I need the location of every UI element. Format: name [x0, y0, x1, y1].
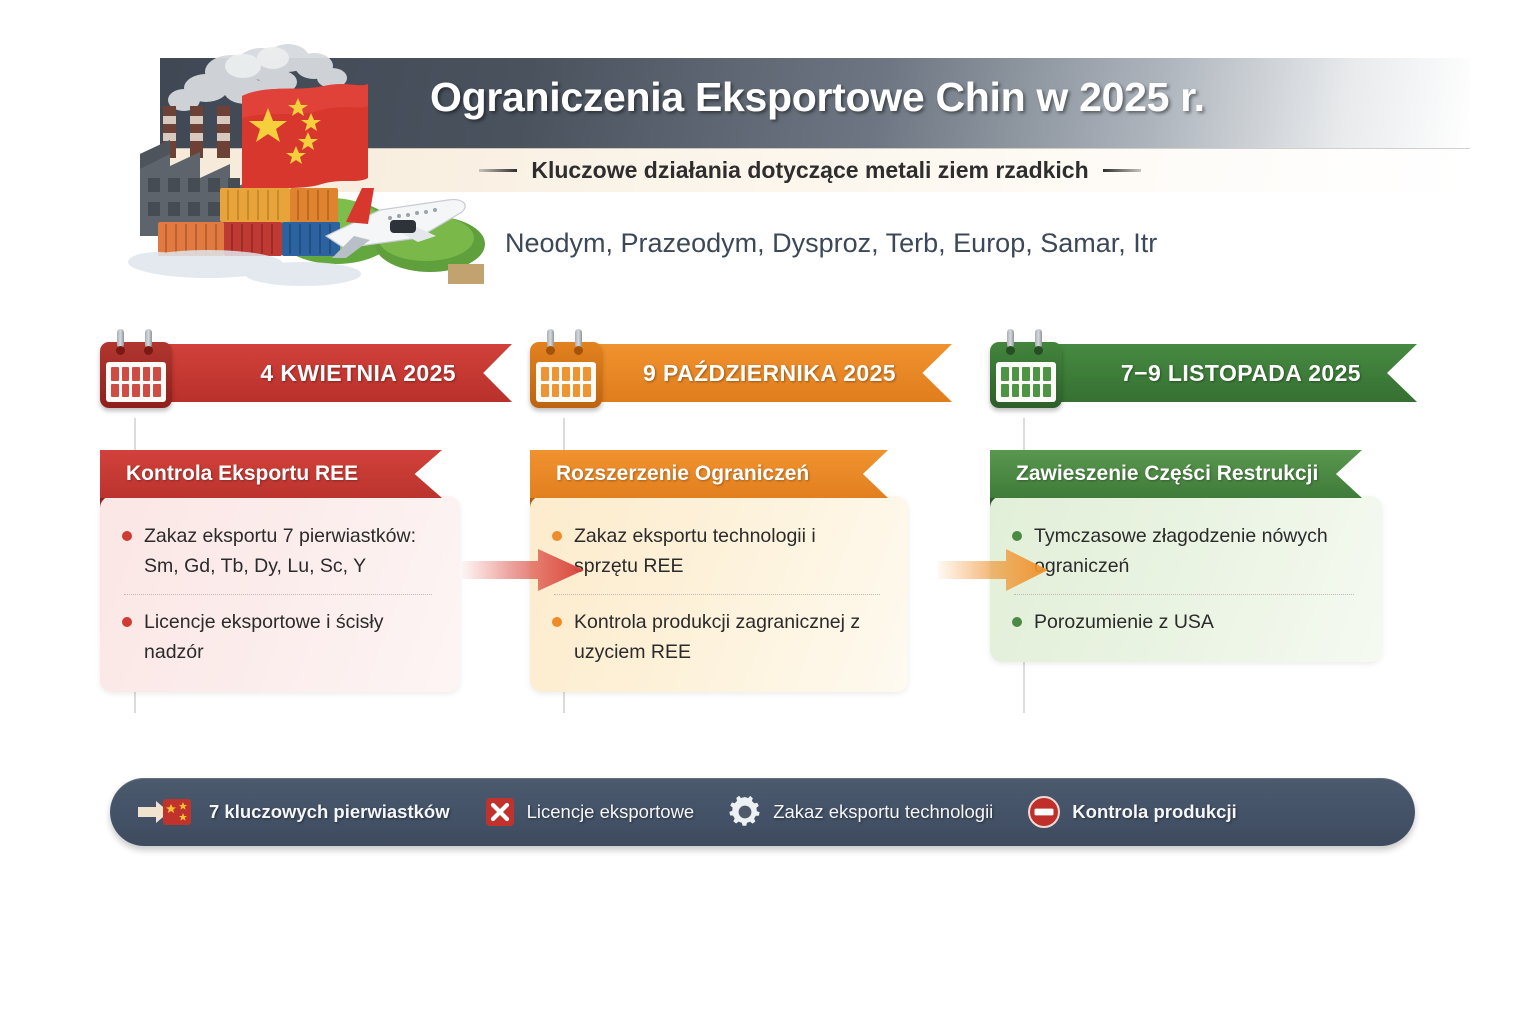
- card-body-stage-1: Zakaz eksportu 7 pierwiastków: Sm, Gd, T…: [100, 496, 460, 692]
- bullet-text: Licencje eksportowe i ścisły nadzór: [144, 608, 434, 667]
- date-row-stage-1: 4 KWIETNIA 2025: [100, 330, 540, 410]
- date-row-stage-2: 9 PAŹDZIERNIKA 2025: [530, 330, 970, 410]
- arrow-stage1-to-stage2: [462, 548, 584, 592]
- legend-item-technology[interactable]: Zakaz eksportu technologii: [728, 795, 993, 829]
- bullet-dot-icon: [122, 531, 132, 541]
- bullet-text: Zakaz eksportu 7 pierwiastków: Sm, Gd, T…: [144, 522, 434, 581]
- bullet-divider: [124, 594, 432, 595]
- bullet-dot-icon: [552, 617, 562, 627]
- timeline-stage-2: 9 PAŹDZIERNIKA 2025 Rozszerzenie Ogranic…: [530, 330, 970, 410]
- calendar-icon: [100, 342, 172, 408]
- card-stage-3: Zawieszenie Części Restrukcji Tymczasowe…: [990, 450, 1382, 662]
- timeline-stage-3: 7−9 LISTOPADA 2025 Zawieszenie Części Re…: [990, 330, 1430, 410]
- factory-flag-containers-airplane-illustration: [118, 36, 488, 286]
- legend-item-elements[interactable]: 7 kluczowych pierwiastków: [138, 796, 450, 828]
- list-item: Zakaz eksportu technologii i sprzętu REE: [552, 522, 882, 581]
- infographic-canvas: Ograniczenia Eksportowe Chin w 2025 r. K…: [0, 0, 1536, 1024]
- date-ribbon-stage-1: 4 KWIETNIA 2025: [152, 344, 512, 402]
- no-entry-icon: [1027, 795, 1061, 829]
- calendar-page: [106, 362, 166, 402]
- card-title-stage-2: Rozszerzenie Ograniczeń: [530, 450, 888, 498]
- bullet-text: Porozumienie z USA: [1034, 608, 1214, 638]
- bullet-dot-icon: [552, 531, 562, 541]
- bullet-dot-icon: [122, 617, 132, 627]
- smokestacks: [163, 106, 230, 158]
- card-title-stage-1: Kontrola Eksportu REE: [100, 450, 442, 498]
- x-cross-icon: [484, 796, 516, 828]
- calendar-ring-cap-right: [574, 346, 583, 355]
- list-item: Zakaz eksportu 7 pierwiastków: Sm, Gd, T…: [122, 522, 434, 581]
- legend-item-licenses[interactable]: Licencje eksportowe: [484, 796, 695, 828]
- timeline-stage-1: 4 KWIETNIA 2025 Kontrola Eksportu REE Za…: [100, 330, 540, 410]
- list-item: Licencje eksportowe i ścisły nadzór: [122, 608, 434, 667]
- calendar-ring-cap-left: [1006, 346, 1015, 355]
- date-ribbon-stage-2: 9 PAŹDZIERNIKA 2025: [582, 344, 952, 402]
- calendar-ring-cap-right: [144, 346, 153, 355]
- legend-item-production[interactable]: Kontrola produkcji: [1027, 795, 1236, 829]
- list-item: Kontrola produkcji zagranicznej z uzycie…: [552, 608, 882, 667]
- bullet-dot-icon: [1012, 531, 1022, 541]
- gear-icon: [728, 795, 762, 829]
- page-subtitle-group: Kluczowe działania dotyczące metali ziem…: [430, 152, 1190, 188]
- legend-bar: 7 kluczowych pierwiastków Licencje ekspo…: [110, 778, 1415, 846]
- calendar-icon: [530, 342, 602, 408]
- bullet-text: Tymczasowe złagodzenie nówych ograniczeń: [1034, 522, 1356, 581]
- bullet-divider: [554, 594, 880, 595]
- card-stage-1: Kontrola Eksportu REE Zakaz eksportu 7 p…: [100, 450, 460, 692]
- list-item: Tymczasowe złagodzenie nówych ograniczeń: [1012, 522, 1356, 581]
- calendar-icon: [990, 342, 1062, 408]
- bullet-divider: [1014, 594, 1354, 595]
- calendar-page: [996, 362, 1056, 402]
- arrow-stage2-to-stage3: [938, 548, 1048, 592]
- card-body-stage-2: Zakaz eksportu technologii i sprzętu REE…: [530, 496, 908, 692]
- date-row-stage-3: 7−9 LISTOPADA 2025: [990, 330, 1430, 410]
- calendar-ring-cap-left: [116, 346, 125, 355]
- bullet-dot-icon: [1012, 617, 1022, 627]
- calendar-page: [536, 362, 596, 402]
- china-flag: [242, 84, 368, 192]
- list-item: Porozumienie z USA: [1012, 608, 1356, 638]
- calendar-ring-cap-right: [1034, 346, 1043, 355]
- page-title: Ograniczenia Eksportowe Chin w 2025 r.: [430, 74, 1270, 136]
- elements-export-icon: [138, 796, 198, 828]
- date-ribbon-stage-3: 7−9 LISTOPADA 2025: [1042, 344, 1417, 402]
- bullet-text: Kontrola produkcji zagranicznej z uzycie…: [574, 608, 882, 667]
- legend-label: 7 kluczowych pierwiastków: [209, 801, 450, 823]
- subtitle-rule-right: [1103, 169, 1141, 172]
- bullet-text: Zakaz eksportu technologii i sprzętu REE: [574, 522, 882, 581]
- card-title-stage-3: Zawieszenie Części Restrukcji: [990, 450, 1362, 498]
- legend-label: Zakaz eksportu technologii: [773, 801, 993, 823]
- legend-label: Licencje eksportowe: [527, 801, 695, 823]
- calendar-ring-cap-left: [546, 346, 555, 355]
- legend-label: Kontrola produkcji: [1072, 801, 1236, 823]
- card-body-stage-3: Tymczasowe złagodzenie nówych ograniczeń…: [990, 496, 1382, 662]
- rare-earth-elements-list: Neodym, Prazeodym, Dysproz, Terb, Europ,…: [505, 228, 1325, 259]
- card-stage-2: Rozszerzenie Ograniczeń Zakaz eksportu t…: [530, 450, 908, 692]
- page-subtitle: Kluczowe działania dotyczące metali ziem…: [531, 157, 1088, 184]
